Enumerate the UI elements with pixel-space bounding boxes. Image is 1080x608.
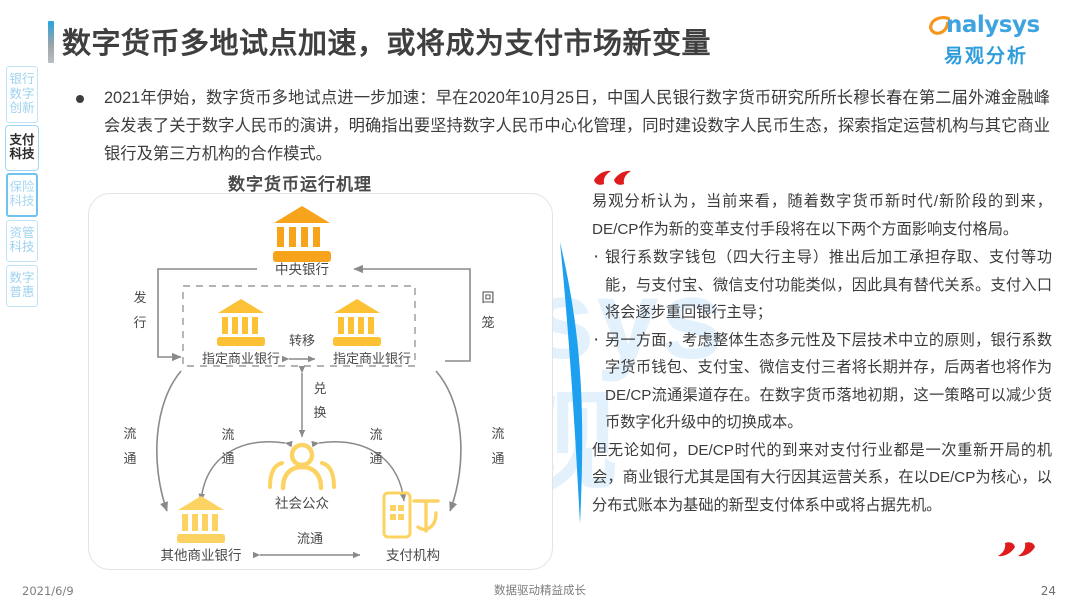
central-bank-icon bbox=[273, 206, 331, 262]
sidebar-item-label: 资管科技 bbox=[7, 226, 37, 255]
other-commercial-bank-icon bbox=[177, 496, 225, 543]
logo-chinese-name: 易观分析 bbox=[944, 41, 1028, 68]
sidebar-item-label: 数字普惠 bbox=[7, 271, 37, 300]
sidebar-item-insurance-tech[interactable]: 保险科技 bbox=[6, 173, 38, 217]
node-label-designated-bank-left: 指定商业银行 bbox=[202, 351, 280, 366]
edge-label-issue-1: 发 bbox=[133, 290, 146, 305]
edge-label-issue-2: 行 bbox=[133, 315, 146, 330]
edge-label-circulate-left-outer-2: 通 bbox=[123, 451, 136, 466]
commentary-list-item: 另一方面，考虑整体生态多元性及下层技术中立的原则，银行系数字货币钱包、支付宝、微… bbox=[592, 327, 1052, 437]
slide-canvas: nalysys 易观 数字货币多地试点加速，或将成为支付市场新变量 nalysy… bbox=[0, 0, 1080, 608]
sidebar-item-bank-digital-innovation[interactable]: 银行数字创新 bbox=[6, 66, 38, 123]
edge-label-circulate-right-outer-1: 流 bbox=[491, 426, 504, 441]
title-accent-bar bbox=[48, 21, 54, 63]
diagram-title: 数字货币运行机理 bbox=[228, 170, 372, 195]
footer-slogan: 数据驱动精益成长 bbox=[0, 582, 1080, 598]
sidebar-item-digital-inclusive-finance[interactable]: 数字普惠 bbox=[6, 265, 38, 307]
node-label-designated-bank-right: 指定商业银行 bbox=[333, 351, 411, 366]
payment-institution-icon bbox=[384, 493, 438, 537]
edge-label-circulate-right-outer-2: 通 bbox=[491, 451, 504, 466]
bullet-point-icon bbox=[76, 95, 84, 103]
logo-wordmark: nalysys bbox=[946, 12, 1040, 38]
sidebar-item-label: 银行数字创新 bbox=[7, 72, 37, 116]
sidebar-item-asset-management-tech[interactable]: 资管科技 bbox=[6, 220, 38, 262]
edge-label-circulate-left-outer-1: 流 bbox=[123, 426, 136, 441]
designated-bank-right-icon bbox=[333, 299, 381, 346]
node-label-other-commercial-bank: 其他商业银行 bbox=[161, 548, 242, 563]
sidebar: 银行数字创新 支付科技 保险科技 资管科技 数字普惠 bbox=[6, 66, 40, 310]
node-label-payment-institution: 支付机构 bbox=[386, 548, 440, 563]
commentary-paragraph: 易观分析认为，当前来看，随着数字货币新时代/新阶段的到来，DE/CP作为新的变革… bbox=[592, 188, 1052, 243]
digital-currency-flow-diagram: 中央银行 发 行 回 笼 指定商业银行 指定商业银行 bbox=[88, 193, 551, 568]
node-label-public: 社会公众 bbox=[275, 496, 329, 511]
edge-label-withdraw-1: 回 bbox=[481, 290, 494, 305]
footer-page-number: 24 bbox=[1041, 584, 1056, 598]
commentary-column: 易观分析认为，当前来看，随着数字货币新时代/新阶段的到来，DE/CP作为新的变革… bbox=[592, 188, 1052, 520]
quote-close-icon bbox=[996, 537, 1038, 557]
edge-label-circulate-bottom: 流通 bbox=[297, 531, 323, 546]
commentary-list-item: 银行系数字钱包（四大行主导）推出后加工承担存取、支付等功能，与支付宝、微信支付功… bbox=[592, 244, 1052, 327]
edge-label-exchange-1: 兑 bbox=[313, 381, 326, 396]
sidebar-item-label: 支付科技 bbox=[8, 133, 36, 162]
edge-label-circulate-right-inner-1: 流 bbox=[369, 427, 382, 442]
edge-label-circulate-right-inner-2: 通 bbox=[369, 451, 382, 466]
node-label-central-bank: 中央银行 bbox=[275, 262, 329, 277]
sidebar-item-label: 保险科技 bbox=[8, 180, 36, 209]
analysys-logo: nalysys 易观分析 bbox=[914, 12, 1054, 68]
edge-label-withdraw-2: 笼 bbox=[481, 315, 494, 330]
blue-lens-decoration bbox=[556, 228, 590, 538]
edge-label-transfer: 转移 bbox=[289, 333, 315, 348]
sidebar-item-payment-tech[interactable]: 支付科技 bbox=[6, 126, 38, 170]
lead-paragraph: 2021年伊始，数字货币多地试点进一步加速：早在2020年10月25日，中国人民… bbox=[104, 84, 1050, 168]
designated-bank-left-icon bbox=[217, 299, 265, 346]
page-title: 数字货币多地试点加速，或将成为支付市场新变量 bbox=[62, 20, 711, 62]
edge-label-exchange-2: 换 bbox=[313, 405, 326, 420]
edge-label-circulate-left-inner-1: 流 bbox=[221, 427, 234, 442]
commentary-paragraph: 但无论如何，DE/CP时代的到来对支付行业都是一次重新开局的机会，商业银行尤其是… bbox=[592, 437, 1052, 520]
edge-label-circulate-left-inner-2: 通 bbox=[221, 451, 234, 466]
public-people-icon bbox=[270, 445, 334, 488]
quote-open-icon bbox=[592, 170, 634, 190]
